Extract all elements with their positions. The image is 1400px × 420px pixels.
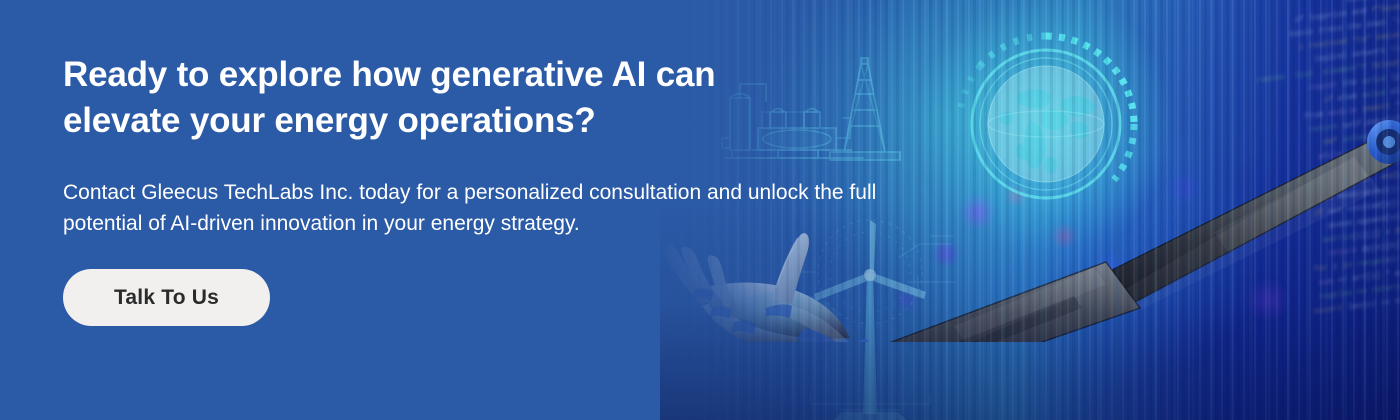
page-title: Ready to explore how generative AI can e… <box>63 52 803 144</box>
cta-banner: minimum int if logarios and f"base basic… <box>0 0 1400 420</box>
banner-content: Ready to explore how generative AI can e… <box>63 52 963 326</box>
talk-to-us-button[interactable]: Talk To Us <box>63 269 270 326</box>
banner-subtext: Contact Gleecus TechLabs Inc. today for … <box>63 177 953 239</box>
